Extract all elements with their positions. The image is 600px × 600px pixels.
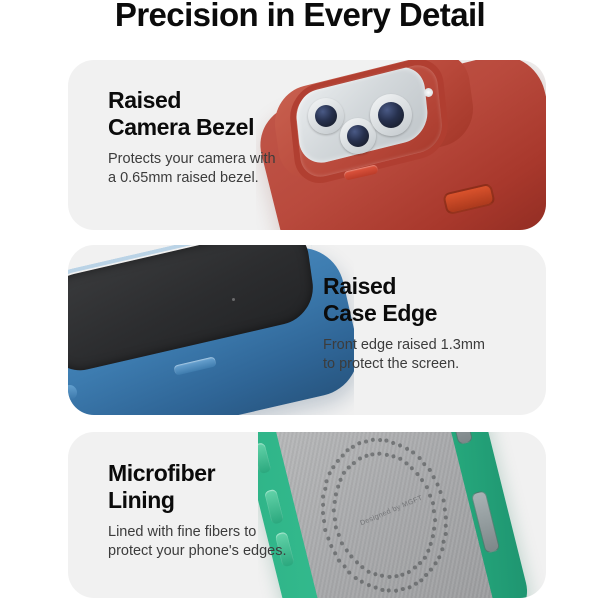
feature-card-raised-case-edge: Raised Case Edge Front edge raised 1.3mm…: [68, 245, 546, 415]
screen-speck: [232, 298, 235, 301]
camera-lens-2: [347, 125, 369, 147]
card-2-heading-line1: Raised: [323, 273, 485, 300]
camera-lens-1: [315, 105, 337, 127]
card-1-heading-line1: Raised: [108, 87, 276, 114]
blue-phone-case-image: [68, 245, 354, 415]
card-1-desc-line1: Protects your camera with: [108, 150, 276, 169]
card-3-desc-line1: Lined with fine fibers to: [108, 523, 287, 542]
camera-flash: [424, 88, 433, 97]
green-phone-case-image: Designed by MGFT: [258, 432, 546, 598]
card-1-desc-line2: a 0.65mm raised bezel.: [108, 169, 276, 188]
card-3-desc-line2: protect your phone's edges.: [108, 542, 287, 561]
card-2-text: Raised Case Edge Front edge raised 1.3mm…: [323, 273, 485, 374]
card-3-heading-line2: Lining: [108, 487, 287, 514]
camera-lens-3: [378, 102, 404, 128]
card-2-desc-line1: Front edge raised 1.3mm: [323, 336, 485, 355]
card-3-heading-line1: Microfiber: [108, 460, 287, 487]
red-phone-case-image: [256, 60, 546, 230]
page-title: Precision in Every Detail: [0, 0, 600, 37]
card-1-text: Raised Camera Bezel Protects your camera…: [108, 87, 276, 188]
green-case-rotation-group: Designed by MGFT: [258, 432, 546, 598]
card-2-desc-line2: to protect the screen.: [323, 355, 485, 374]
card-1-heading-line2: Camera Bezel: [108, 114, 276, 141]
card-2-heading-line2: Case Edge: [323, 300, 485, 327]
feature-card-microfiber-lining: Designed by MGFT Microfiber Lining Lined…: [68, 432, 546, 598]
feature-card-raised-camera-bezel: Raised Camera Bezel Protects your camera…: [68, 60, 546, 230]
infographic-page: Precision in Every Detail Raised Camera …: [0, 0, 600, 600]
card-3-text: Microfiber Lining Lined with fine fibers…: [108, 460, 287, 561]
